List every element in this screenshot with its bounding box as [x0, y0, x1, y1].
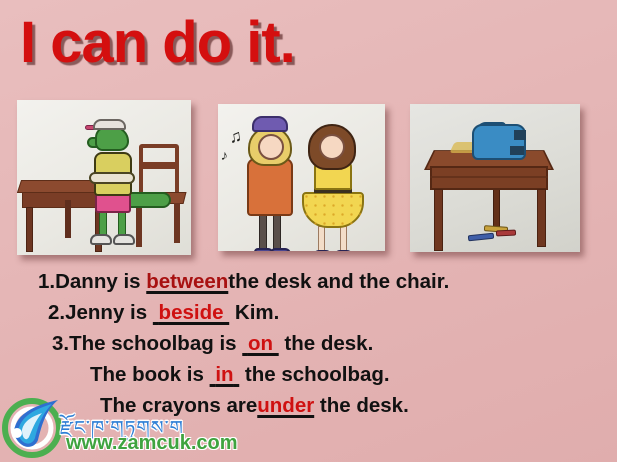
desk-back-leg: [493, 184, 500, 228]
desk-leg-left: [434, 189, 443, 251]
dinosaur-skirt: [95, 193, 131, 213]
girl1-face: [258, 134, 284, 160]
sentence-1-answer: between: [146, 270, 228, 293]
sentence-4: The book is in the schoolbag.: [0, 359, 617, 390]
dinosaur-shoe-left: [90, 234, 112, 245]
desk-back-leg: [65, 200, 71, 238]
desk-leg-left: [26, 207, 33, 252]
girl1-leg-right: [273, 214, 281, 251]
sentence-3-suffix: the desk.: [279, 332, 374, 355]
sentence-3: 3.The schoolbag is on the desk.: [0, 328, 617, 359]
girl2-leg-left: [318, 226, 325, 251]
desk-leg-right: [537, 189, 546, 247]
chair-leg-right: [174, 203, 180, 243]
girl1-leg-left: [259, 214, 267, 251]
sentence-5-suffix: the desk.: [314, 394, 409, 417]
crayon-blue: [468, 233, 494, 242]
dinosaur-tail: [127, 192, 171, 208]
dinosaur-arms: [89, 172, 135, 184]
girl2-shoe-right: [334, 250, 353, 251]
sentence-5-prefix: The crayons are: [100, 394, 257, 417]
sentence-3-answer: on: [242, 332, 278, 355]
chair-slat: [143, 162, 175, 169]
sentence-1: 1.Danny is betweenthe desk and the chair…: [0, 266, 617, 297]
sentence-2-prefix: 2.Jenny is: [48, 301, 153, 324]
girl1-boot-right: [271, 248, 291, 251]
desk-apron: [430, 166, 548, 190]
chair-backrest: [139, 144, 179, 196]
chair-leg-left: [136, 203, 142, 247]
sentence-1-prefix: 1.Danny is: [38, 270, 146, 293]
dinosaur-cap: [93, 119, 126, 130]
sentence-3-prefix: 3.The schoolbag is: [52, 332, 242, 355]
desk-apron: [22, 192, 106, 208]
crayon-red: [496, 229, 516, 236]
scene-danny: [17, 100, 191, 255]
scene-two-girls: ♫ ♪: [218, 104, 385, 251]
girl1-orange-dress: [247, 158, 293, 216]
image-danny-between-desk-and-chair: [17, 100, 191, 255]
sentence-4-answer: in: [210, 363, 240, 386]
sentence-5-answer: under: [257, 394, 314, 417]
sentence-1-suffix: the desk and the chair.: [228, 270, 449, 293]
girl2-leg-right: [340, 226, 347, 251]
sentence-2: 2.Jenny is beside Kim.: [0, 297, 617, 328]
slide-canvas: I can do it.: [0, 0, 617, 462]
dinosaur-shoe-right: [113, 234, 135, 245]
girl2-skirt-polka-dots: [302, 192, 364, 228]
desk-apron-line: [430, 176, 548, 178]
girl2-shoe-left: [313, 250, 332, 251]
girl2-face: [319, 134, 345, 160]
sentence-2-suffix: Kim.: [229, 301, 279, 324]
watermark-url: www.zamcuk.com: [66, 432, 238, 455]
schoolbag-pocket-top: [514, 130, 526, 140]
schoolbag-pocket-bottom: [510, 146, 524, 155]
sentence-list: 1.Danny is betweenthe desk and the chair…: [0, 266, 617, 421]
music-note-icon: ♫: [228, 127, 243, 146]
sentence-4-suffix: the schoolbag.: [239, 363, 389, 386]
image-jenny-beside-kim: ♫ ♪: [218, 104, 385, 251]
sentence-2-answer: beside: [153, 301, 229, 324]
sentence-4-prefix: The book is: [90, 363, 210, 386]
sentence-5: The crayons areunder the desk.: [0, 390, 617, 421]
image-schoolbag-on-desk: [410, 104, 580, 252]
girl1-purple-hat: [252, 116, 288, 132]
page-title: I can do it.: [20, 14, 295, 72]
scene-desk-with-schoolbag: [410, 104, 580, 252]
music-note-icon: ♪: [220, 148, 228, 163]
